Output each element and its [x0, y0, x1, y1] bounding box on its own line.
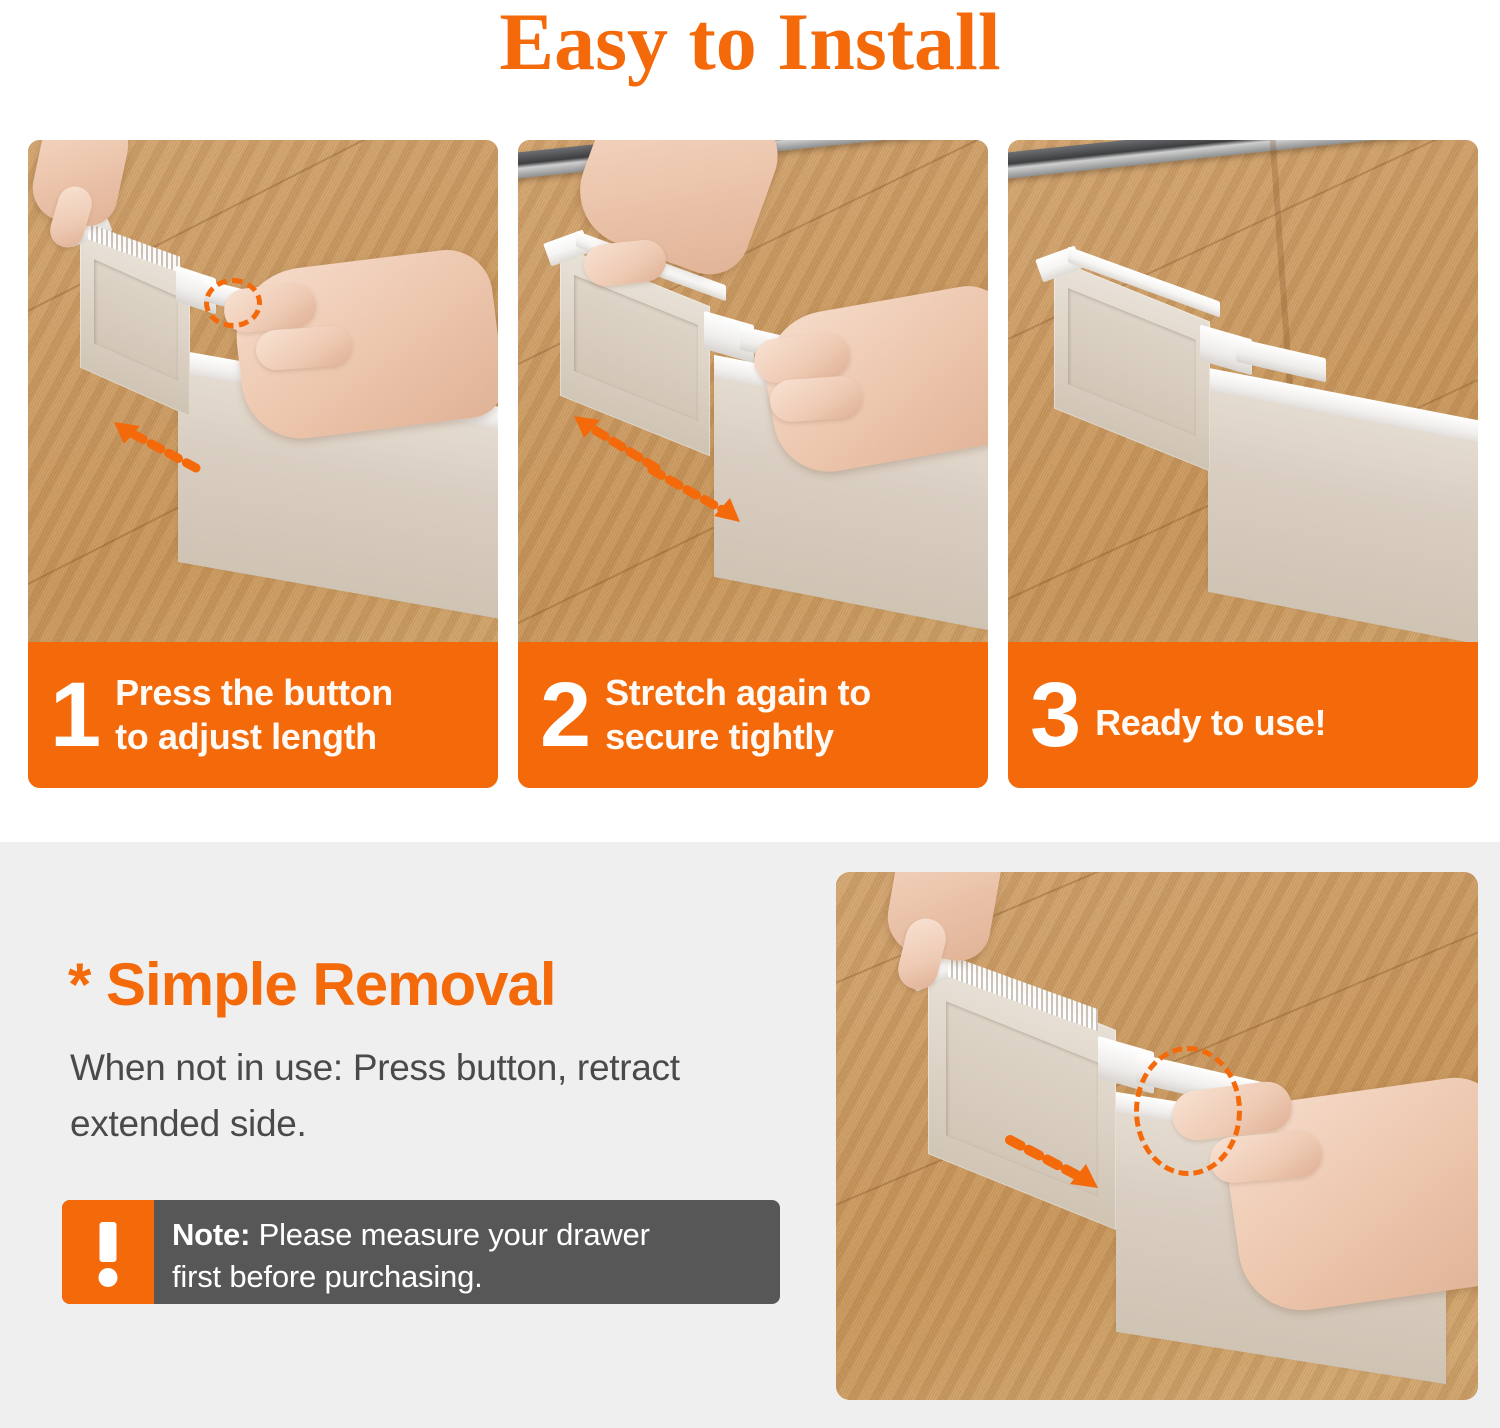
simple-removal-section: * Simple Removal When not in use: Press … — [0, 842, 1500, 1428]
step-panel-3: 3 Ready to use! — [1008, 140, 1478, 788]
removal-photo — [836, 872, 1478, 1400]
exclamation-icon — [62, 1200, 154, 1304]
step-2-number: 2 — [540, 673, 589, 758]
step-2-caption-line1: Stretch again to — [605, 672, 871, 713]
note-box: Note: Please measure your drawer first b… — [62, 1200, 780, 1304]
exclamation-dot — [99, 1268, 118, 1287]
removal-heading-text: Simple Removal — [106, 951, 556, 1018]
removal-heading-marker: * — [68, 951, 90, 1018]
note-line2: first before purchasing. — [172, 1259, 483, 1294]
note-label: Note: — [172, 1217, 250, 1252]
step-1-caption-line2: to adjust length — [115, 716, 377, 757]
right-middle-finger — [769, 375, 864, 423]
removal-body-line2: extended side. — [70, 1103, 306, 1144]
removal-heading: * Simple Removal — [68, 950, 556, 1019]
step-1-caption-line1: Press the button — [115, 672, 393, 713]
removal-body-line1: When not in use: Press button, retract — [70, 1047, 680, 1088]
step-1-caption-text: Press the button to adjust length — [115, 671, 393, 759]
step-3-caption-text: Ready to use! — [1095, 685, 1326, 745]
direction-arrow-right-icon — [1002, 1128, 1132, 1208]
note-line1: Please measure your drawer — [250, 1217, 650, 1252]
step-panel-2: 2 Stretch again to secure tightly — [518, 140, 988, 788]
direction-arrow-down-right-icon — [644, 460, 774, 540]
step-panel-1: 1 Press the button to adjust length — [28, 140, 498, 788]
step-2-caption-line2: secure tightly — [605, 716, 833, 757]
install-steps-section: Easy to Install — [0, 0, 1500, 842]
button-highlight-circle-icon — [1134, 1046, 1242, 1176]
exclamation-stem — [100, 1222, 117, 1262]
step-2-caption-text: Stretch again to secure tightly — [605, 671, 871, 759]
right-middle-finger — [255, 325, 354, 372]
step-1-number: 1 — [50, 673, 99, 758]
direction-arrow-left-icon — [84, 410, 204, 480]
page-title: Easy to Install — [0, 0, 1500, 87]
removal-body-text: When not in use: Press button, retract e… — [70, 1040, 800, 1152]
step-3-caption: 3 Ready to use! — [1008, 642, 1478, 788]
step-1-caption: 1 Press the button to adjust length — [28, 642, 498, 788]
step-3-number: 3 — [1030, 673, 1079, 758]
step-2-caption: 2 Stretch again to secure tightly — [518, 642, 988, 788]
button-highlight-circle-icon — [204, 278, 262, 328]
note-text: Note: Please measure your drawer first b… — [154, 1200, 780, 1304]
